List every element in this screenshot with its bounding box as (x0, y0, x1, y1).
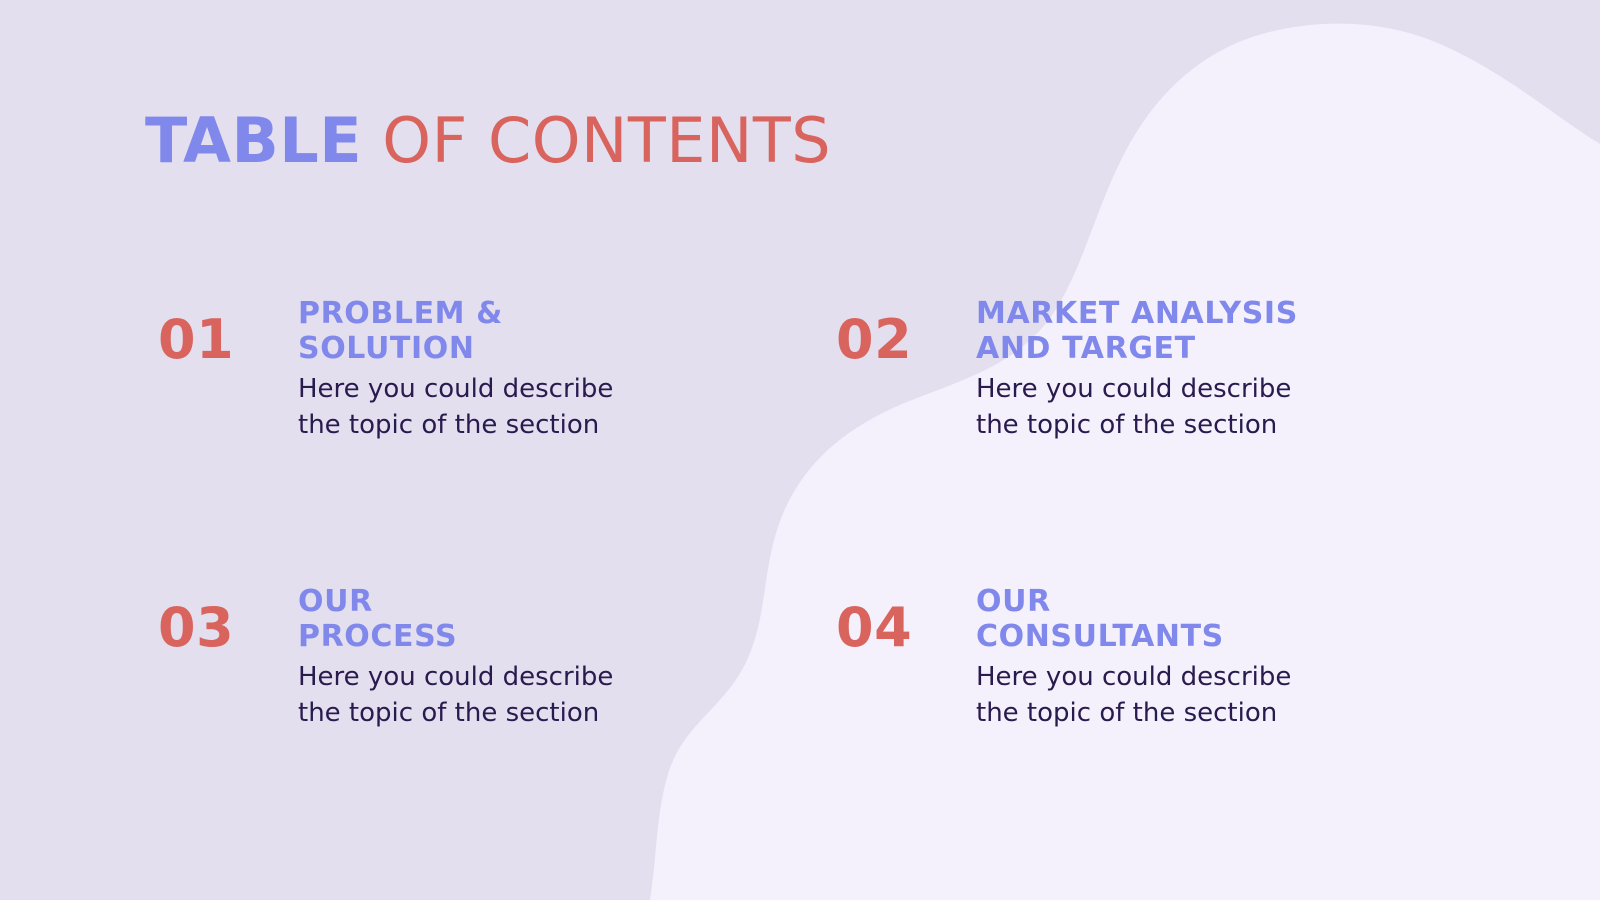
toc-grid: 01 PROBLEM & SOLUTION Here you could des… (0, 296, 1600, 872)
toc-item-description: Here you could describe the topic of the… (298, 660, 613, 731)
page-title: TABLE OF CONTENTS (145, 110, 831, 172)
toc-row: 03 OUR PROCESS Here you could describe t… (0, 584, 1600, 872)
toc-item-number: 02 (836, 296, 976, 365)
toc-item-description: Here you could describe the topic of the… (976, 660, 1291, 731)
toc-item-number: 01 (158, 296, 298, 365)
toc-row: 01 PROBLEM & SOLUTION Here you could des… (0, 296, 1600, 584)
toc-item-01[interactable]: 01 PROBLEM & SOLUTION Here you could des… (158, 296, 613, 443)
toc-item-heading: MARKET ANALYSIS AND TARGET (976, 296, 1298, 366)
toc-item-body: OUR PROCESS Here you could describe the … (298, 584, 613, 731)
page-title-accent: TABLE (145, 104, 362, 177)
toc-item-heading: PROBLEM & SOLUTION (298, 296, 613, 366)
toc-item-description: Here you could describe the topic of the… (298, 372, 613, 443)
toc-item-03[interactable]: 03 OUR PROCESS Here you could describe t… (158, 584, 613, 731)
slide-content: TABLE OF CONTENTS 01 PROBLEM & SOLUTION … (0, 0, 1600, 900)
toc-item-body: MARKET ANALYSIS AND TARGET Here you coul… (976, 296, 1298, 443)
toc-item-02[interactable]: 02 MARKET ANALYSIS AND TARGET Here you c… (836, 296, 1298, 443)
slide-canvas: TABLE OF CONTENTS 01 PROBLEM & SOLUTION … (0, 0, 1600, 900)
toc-item-heading: OUR PROCESS (298, 584, 613, 654)
toc-item-body: PROBLEM & SOLUTION Here you could descri… (298, 296, 613, 443)
toc-item-description: Here you could describe the topic of the… (976, 372, 1298, 443)
toc-item-body: OUR CONSULTANTS Here you could describe … (976, 584, 1291, 731)
toc-item-number: 04 (836, 584, 976, 653)
toc-item-heading: OUR CONSULTANTS (976, 584, 1291, 654)
page-title-main: OF CONTENTS (362, 104, 831, 177)
toc-item-04[interactable]: 04 OUR CONSULTANTS Here you could descri… (836, 584, 1291, 731)
toc-item-number: 03 (158, 584, 298, 653)
